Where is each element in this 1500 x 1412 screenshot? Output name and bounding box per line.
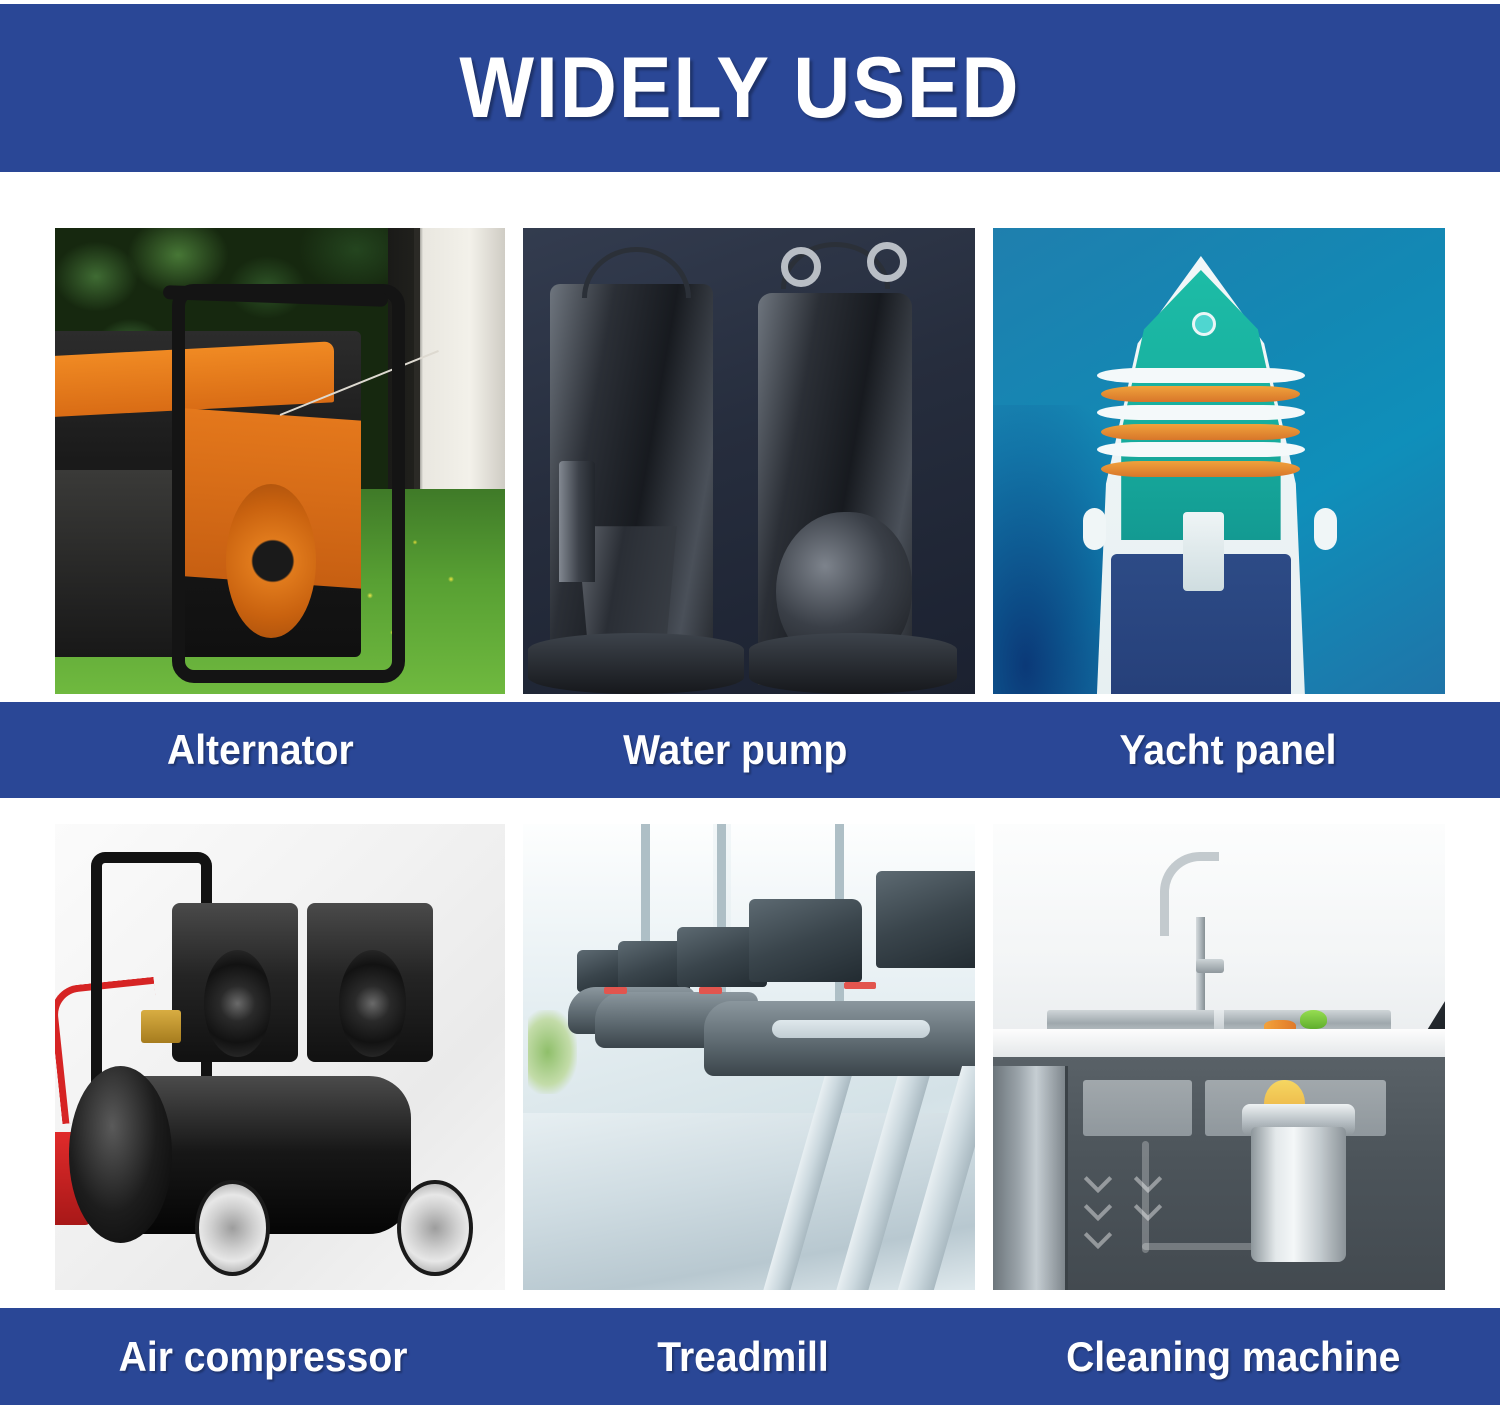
yacht-orange-stripe-3: [1101, 461, 1300, 477]
pump-left-lifting-handle: [582, 247, 691, 299]
pump-left-discharge-pipe: [559, 461, 595, 582]
alternator-generator-photo: [55, 228, 505, 694]
faucet-lever-handle: [1196, 959, 1223, 973]
header-banner: WIDELY USED: [0, 4, 1500, 172]
compressor-wheel-1: [195, 1180, 271, 1277]
yacht-bow-fixture: [1192, 312, 1216, 336]
treadmill-photo: [523, 824, 975, 1290]
compressor-brass-regulator: [141, 1010, 182, 1043]
treadmill-accent-stripe-2: [699, 987, 722, 994]
pump-lifting-eye-right: [867, 242, 907, 282]
pump-right-base-plate: [749, 633, 957, 694]
treadmill-rail-near: [704, 1001, 975, 1076]
dishwasher-unit: [993, 1066, 1068, 1290]
air-compressor-photo: [55, 824, 505, 1290]
food-waste-disposer-unit: [1251, 1127, 1346, 1262]
drain-pipe-horizontal: [1142, 1243, 1260, 1250]
caption-water-pump: Water pump: [623, 726, 839, 774]
treadmill-accent-stripe-3: [844, 982, 876, 989]
compressor-fan-2: [339, 950, 407, 1057]
yacht-funnel: [1183, 512, 1224, 591]
image-cell-water-pump[interactable]: [523, 228, 975, 694]
yacht-orange-stripe-2: [1101, 424, 1300, 440]
background-building: [388, 228, 505, 517]
yacht-orange-stripe-1: [1101, 386, 1300, 402]
water-pump-photo: [523, 228, 975, 694]
generator-engine-block: [55, 470, 181, 656]
pump-left-base-plate: [528, 633, 745, 694]
generator-roll-cage: [172, 284, 405, 683]
image-cell-yacht-panel[interactable]: [993, 228, 1445, 694]
page-title: WIDELY USED: [459, 45, 1020, 131]
image-cell-air-compressor[interactable]: [55, 824, 505, 1290]
yacht-white-band-2: [1097, 405, 1305, 420]
caption-band-bottom: Air compressor Treadmill Cleaning machin…: [0, 1308, 1500, 1405]
yacht-lifeboat-left: [1083, 508, 1106, 550]
image-cell-cleaning-machine[interactable]: [993, 824, 1445, 1290]
caption-alternator: Alternator: [167, 726, 353, 774]
pump-lifting-eye-left: [781, 247, 821, 287]
compressor-fan-1: [204, 950, 272, 1057]
image-row-bottom: [0, 824, 1500, 1290]
caption-yacht-panel: Yacht panel: [1116, 726, 1339, 774]
image-row-top: [0, 228, 1500, 694]
cabinet-panel-left: [1083, 1080, 1191, 1136]
treadmill-console-nearest: [876, 871, 975, 969]
caption-band-top: Alternator Water pump Yacht panel: [0, 702, 1500, 798]
yacht-white-band-1: [1097, 368, 1305, 383]
compressor-wheel-2: [397, 1180, 473, 1277]
cleaning-machine-photo: [993, 824, 1445, 1290]
caption-air-compressor: Air compressor: [119, 1333, 403, 1381]
caption-cleaning-machine: Cleaning machine: [1066, 1333, 1387, 1381]
treadmill-accent-stripe-1: [604, 987, 627, 994]
kitchen-countertop: [993, 1029, 1445, 1057]
yacht-lifeboat-right: [1314, 508, 1337, 550]
compressor-tank-endcap: [69, 1066, 173, 1243]
caption-treadmill: Treadmill: [655, 1333, 832, 1381]
food-scrap-lettuce: [1300, 1010, 1327, 1029]
image-cell-treadmill[interactable]: [523, 824, 975, 1290]
image-cell-alternator[interactable]: [55, 228, 505, 694]
yacht-panel-photo: [993, 228, 1445, 694]
yacht-white-band-3: [1097, 442, 1305, 457]
treadmill-console-near: [749, 899, 862, 983]
treadmill-rail-grip-cutout: [772, 1020, 930, 1039]
